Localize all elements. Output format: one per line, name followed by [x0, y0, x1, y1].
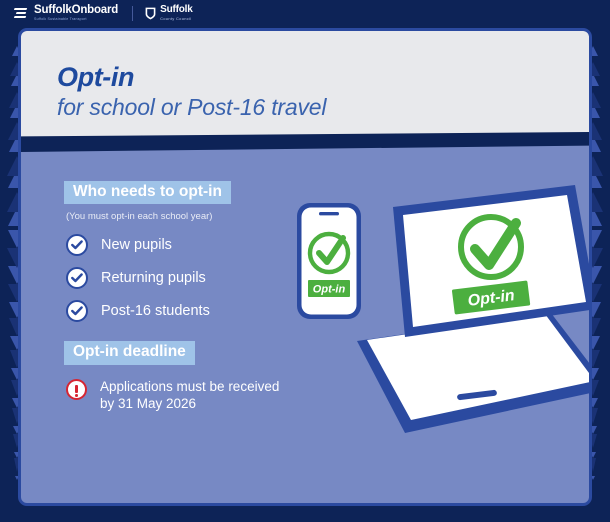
laptop-base-illustration: [357, 313, 589, 433]
top-logo-bar: SuffolkOnboard Suffolk Sustainable Trans…: [0, 0, 610, 26]
onboard-motion-lines-icon: [14, 7, 29, 20]
list-item-label: Post-16 students: [101, 303, 210, 319]
poster: SuffolkOnboard Suffolk Sustainable Trans…: [0, 0, 610, 522]
suffolk-onboard-logo: SuffolkOnboard Suffolk Sustainable Trans…: [14, 5, 118, 22]
council-logo-name: Suffolk: [160, 5, 193, 15]
deadline-line-1: Applications must be received: [100, 379, 279, 394]
check-circle-icon: [66, 300, 88, 322]
list-item-label: Returning pupils: [101, 270, 206, 286]
warning-exclamation-icon: [66, 379, 87, 400]
devices-illustration: Opt-in: [279, 181, 589, 471]
suffolk-county-council-logo: Suffolk County Council: [145, 5, 193, 21]
page-title: Opt-in: [57, 64, 326, 91]
svg-text:Opt-in: Opt-in: [313, 284, 346, 296]
logo-divider: [132, 6, 133, 21]
council-logo-subtitle: County Council: [160, 17, 193, 21]
content-column: Who needs to opt-in (You must opt-in eac…: [21, 181, 321, 413]
poster-card: Opt-in for school or Post-16 travel Who …: [18, 28, 592, 506]
check-circle-icon: [66, 234, 88, 256]
phone-illustration: Opt-in: [297, 203, 361, 319]
deadline-text: Applications must be received by 31 May …: [100, 378, 279, 413]
page-subtitle: for school or Post-16 travel: [57, 95, 326, 120]
onboard-logo-name: SuffolkOnboard: [34, 5, 118, 17]
page-title-block: Opt-in for school or Post-16 travel: [57, 64, 326, 120]
onboard-logo-subtitle: Suffolk Sustainable Transport: [34, 18, 118, 22]
opt-in-deadline-pill: Opt-in deadline: [64, 341, 195, 364]
who-needs-to-opt-in-pill: Who needs to opt-in: [64, 181, 231, 204]
laptop-screen-illustration: Opt-in: [393, 185, 589, 337]
shield-icon: [145, 7, 156, 20]
check-circle-icon: [66, 267, 88, 289]
list-item-label: New pupils: [101, 237, 172, 253]
deadline-line-2: by 31 May 2026: [100, 396, 196, 411]
